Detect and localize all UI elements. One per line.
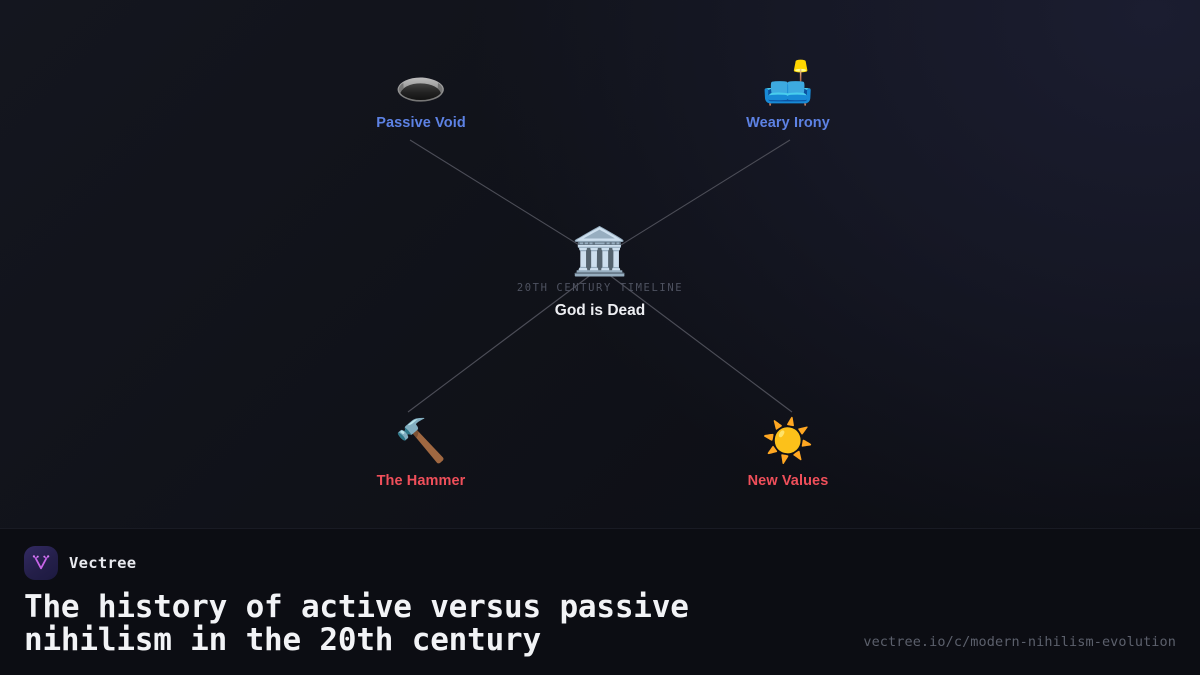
brand-name: Vectree <box>69 554 136 572</box>
mindmap-root-node[interactable]: 🏛️ 20TH CENTURY TIMELINE God is Dead <box>390 226 810 320</box>
mindmap-node-weary-irony[interactable]: 🛋️ Weary Irony <box>678 60 898 131</box>
screenshot-root: 🕳️ Passive Void 🛋️ Weary Irony 🏛️ 20TH C… <box>0 0 1200 675</box>
couch-and-lamp-icon: 🛋️ <box>678 60 898 106</box>
root-node-kicker: 20TH CENTURY TIMELINE <box>390 282 810 294</box>
brand-row[interactable]: Vectree <box>24 546 136 580</box>
mindmap-node-label: Weary Irony <box>678 116 898 131</box>
share-url[interactable]: vectree.io/c/modern-nihilism-evolution <box>863 634 1176 650</box>
classical-building-icon: 🏛️ <box>390 226 810 276</box>
mindmap-node-new-values[interactable]: ☀️ New Values <box>678 418 898 489</box>
hammer-icon: 🔨 <box>311 418 531 464</box>
hole-icon: 🕳️ <box>311 60 531 106</box>
footer-bar: Vectree The history of active versus pas… <box>0 528 1200 675</box>
mindmap-node-passive-void[interactable]: 🕳️ Passive Void <box>311 60 531 131</box>
mindmap-canvas[interactable]: 🕳️ Passive Void 🛋️ Weary Irony 🏛️ 20TH C… <box>0 0 1200 528</box>
mindmap-node-label: Passive Void <box>311 116 531 131</box>
mindmap-node-the-hammer[interactable]: 🔨 The Hammer <box>311 418 531 489</box>
sun-icon: ☀️ <box>678 418 898 464</box>
vectree-glyph-icon <box>31 553 51 573</box>
page-title: The history of active versus passive nih… <box>24 591 854 657</box>
root-node-title: God is Dead <box>390 302 810 320</box>
mindmap-node-label: New Values <box>678 474 898 489</box>
mindmap-node-label: The Hammer <box>311 474 531 489</box>
vectree-logo-icon <box>24 546 58 580</box>
